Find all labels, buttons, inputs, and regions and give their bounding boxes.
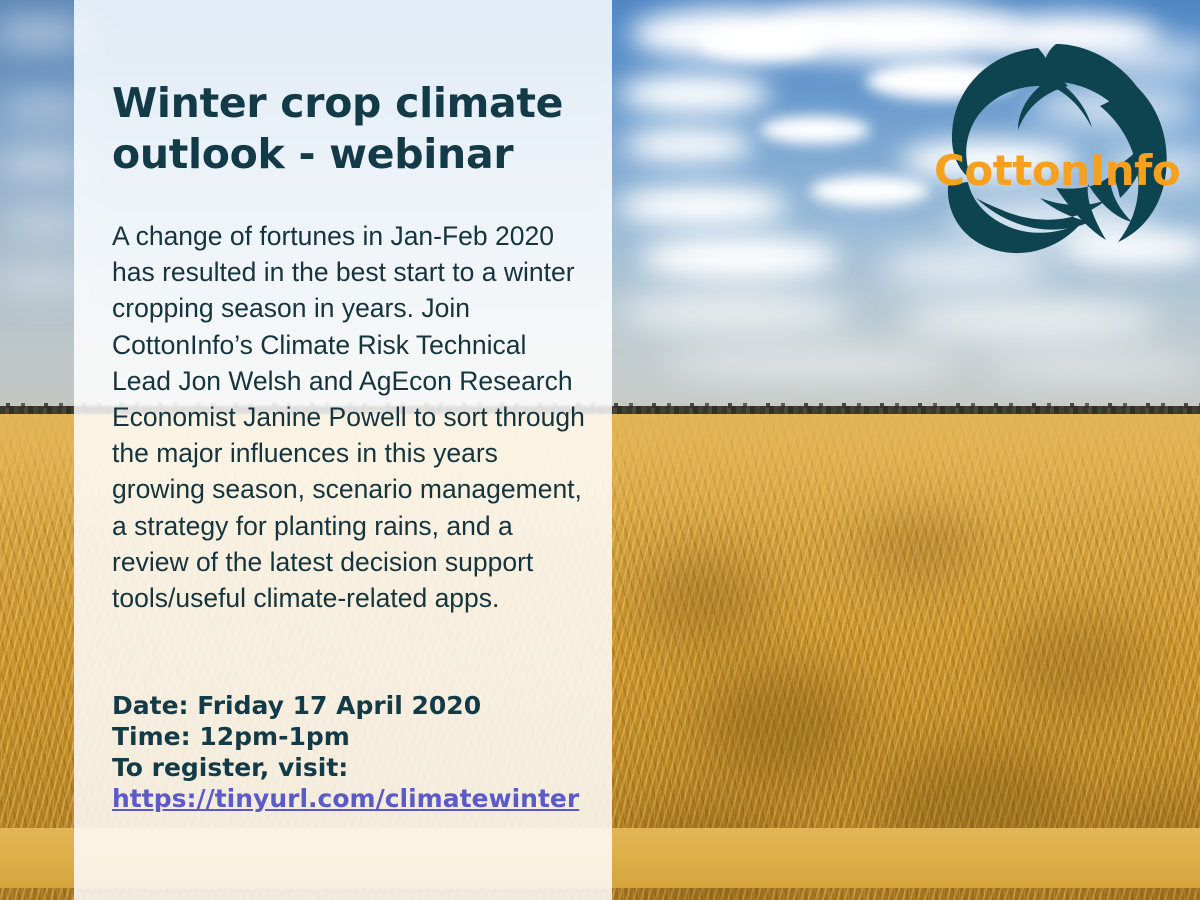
sky-left-strip xyxy=(0,0,74,414)
title-line-2: outlook - webinar xyxy=(112,129,582,180)
webinar-poster: Winter crop climate outlook - webinar A … xyxy=(0,0,1200,900)
title-line-1: Winter crop climate xyxy=(112,78,582,129)
register-label: To register, visit: xyxy=(112,752,590,783)
event-date: Date: Friday 17 April 2020 xyxy=(112,690,590,721)
description-paragraph: A change of fortunes in Jan-Feb 2020 has… xyxy=(112,218,588,616)
page-title: Winter crop climate outlook - webinar xyxy=(112,78,582,180)
logo-wordmark: CottonInfo xyxy=(934,150,1176,192)
event-time: Time: 12pm-1pm xyxy=(112,721,590,752)
content-panel: Winter crop climate outlook - webinar A … xyxy=(74,0,612,900)
cottoninfo-logo: CottonInfo xyxy=(930,38,1180,263)
event-details: Date: Friday 17 April 2020 Time: 12pm-1p… xyxy=(112,690,590,814)
registration-link[interactable]: https://tinyurl.com/climatewinter xyxy=(112,783,590,814)
